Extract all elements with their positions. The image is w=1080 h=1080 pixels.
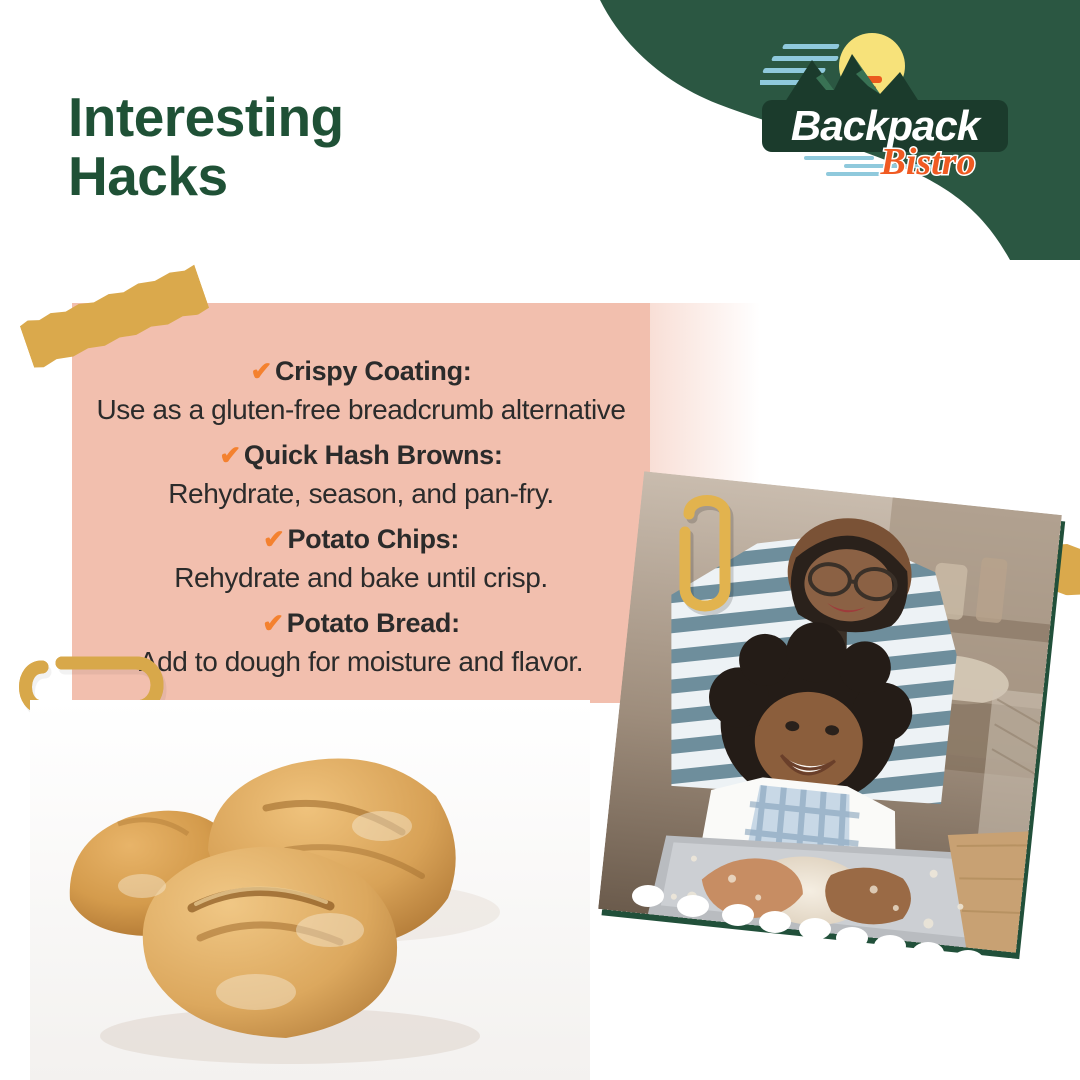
hack-heading: ✔Potato Chips: (72, 520, 650, 558)
check-icon: ✔ (250, 356, 272, 386)
hack-description: Rehydrate, season, and pan-fry. (72, 474, 650, 515)
page-title-line-2: Hacks (68, 147, 488, 206)
logo-name-secondary: Bistro (879, 141, 975, 183)
hack-heading-text: Potato Chips: (287, 524, 459, 554)
hack-heading-text: Quick Hash Browns: (244, 440, 503, 470)
list-item: ✔Potato Chips: Rehydrate and bake until … (72, 520, 650, 599)
check-icon: ✔ (262, 608, 284, 638)
hack-heading: ✔Crispy Coating: (72, 352, 650, 390)
hack-description: Use as a gluten-free breadcrumb alternat… (72, 390, 650, 431)
list-item: ✔Crispy Coating: Use as a gluten-free br… (72, 352, 650, 431)
list-item: ✔Quick Hash Browns: Rehydrate, season, a… (72, 436, 650, 515)
hack-heading-text: Potato Bread: (287, 608, 460, 638)
page-title-line-1: Interesting (68, 88, 488, 147)
paper-clip-vertical (665, 492, 745, 617)
hack-heading: ✔Quick Hash Browns: (72, 436, 650, 474)
hack-heading: ✔Potato Bread: (72, 604, 650, 642)
hack-description: Rehydrate and bake until crisp. (72, 558, 650, 599)
page-title: Interesting Hacks (68, 88, 488, 207)
bread-photo (30, 700, 590, 1080)
check-icon: ✔ (263, 524, 285, 554)
hacks-list: ✔Crispy Coating: Use as a gluten-free br… (72, 352, 650, 688)
brand-logo[interactable]: Backpack Bistro (760, 14, 1010, 184)
check-icon: ✔ (219, 440, 241, 470)
hack-heading-text: Crispy Coating: (275, 356, 472, 386)
